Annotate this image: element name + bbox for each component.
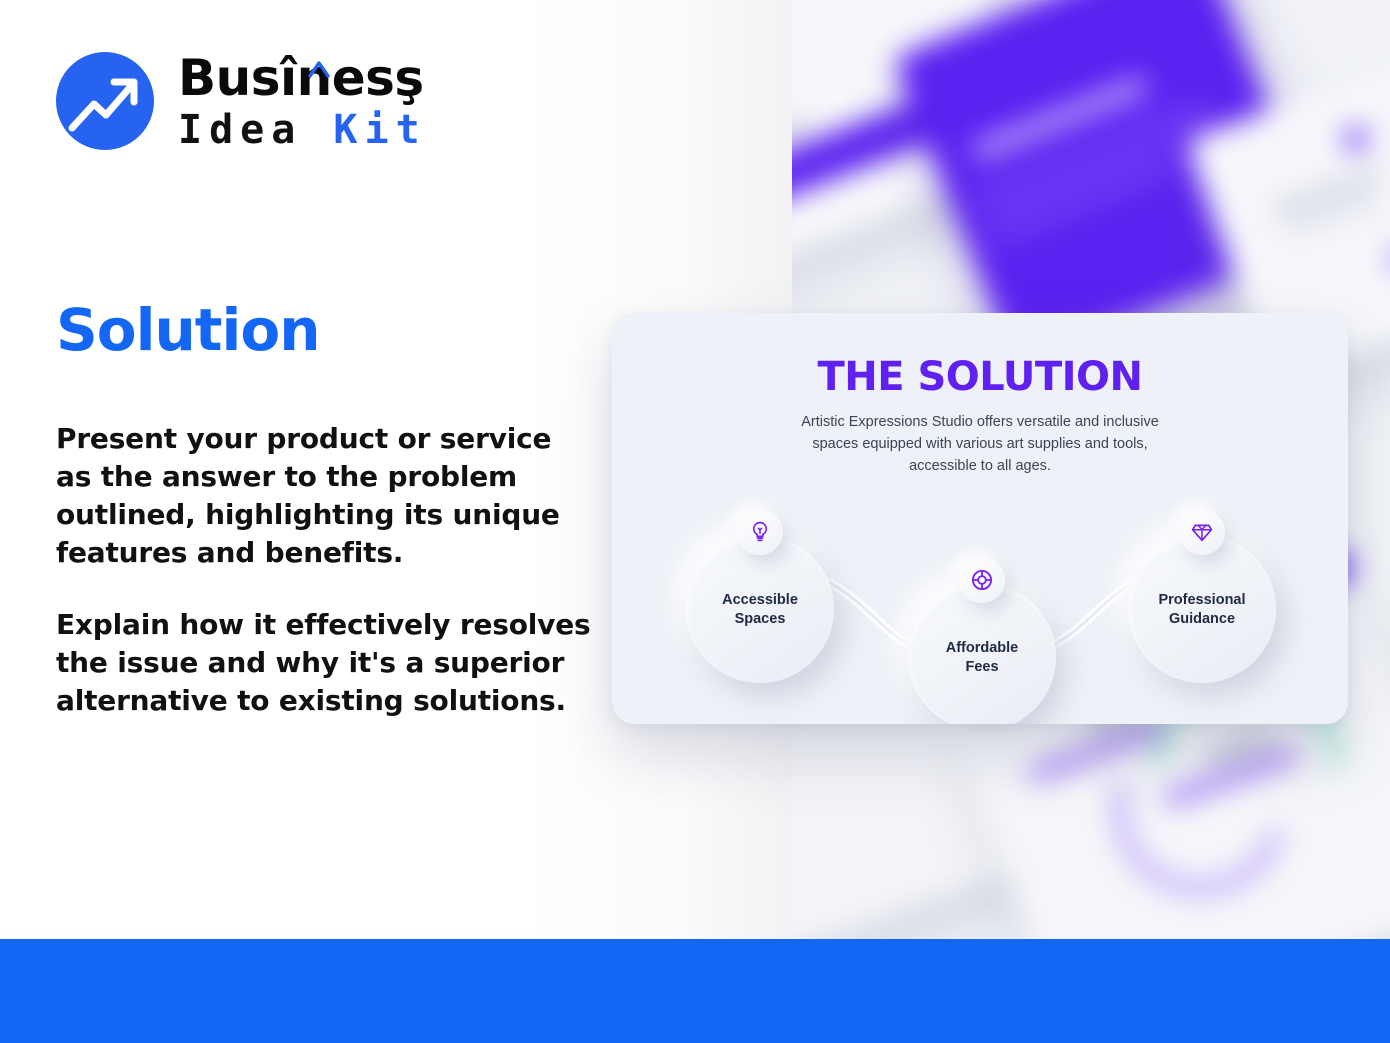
slide-page: Busînesş Idea Kit Solution Present your … [0,0,1390,1043]
node-label: Affordable Fees [908,639,1056,677]
body-paragraph-2: Explain how it effectively resolves the … [56,606,596,720]
node-label-line1: Professional [1158,592,1245,608]
diamond-icon [1179,509,1225,555]
footer-bar [0,939,1390,1043]
node-label: Accessible Spaces [686,591,834,629]
brand-name-line1: Busînesş [178,49,424,107]
lightbulb-icon [737,509,783,555]
brand-name-idea: Idea [178,107,333,153]
trend-arrow-circle-icon [56,52,154,150]
node-label-line1: Accessible [722,592,798,608]
lifebuoy-icon [959,557,1005,603]
brand-name-kit: Kit [333,107,426,153]
solution-card: THE SOLUTION Artistic Expressions Studio… [612,313,1348,724]
solution-nodes: Accessible Spaces Affordable Fees [612,313,1348,724]
node-label-line2: Fees [965,659,998,675]
node-label-line2: Spaces [735,611,786,627]
body-paragraph-1: Present your product or service as the a… [56,420,596,572]
body-copy: Present your product or service as the a… [56,420,596,721]
node-label-line2: Guidance [1169,611,1235,627]
brand-logo[interactable]: Busînesş Idea Kit [56,52,427,150]
node-label-line1: Affordable [946,640,1019,656]
brand-wordmark: Busînesş Idea Kit [178,53,427,150]
page-title: Solution [56,296,320,364]
node-label: Professional Guidance [1128,591,1276,629]
